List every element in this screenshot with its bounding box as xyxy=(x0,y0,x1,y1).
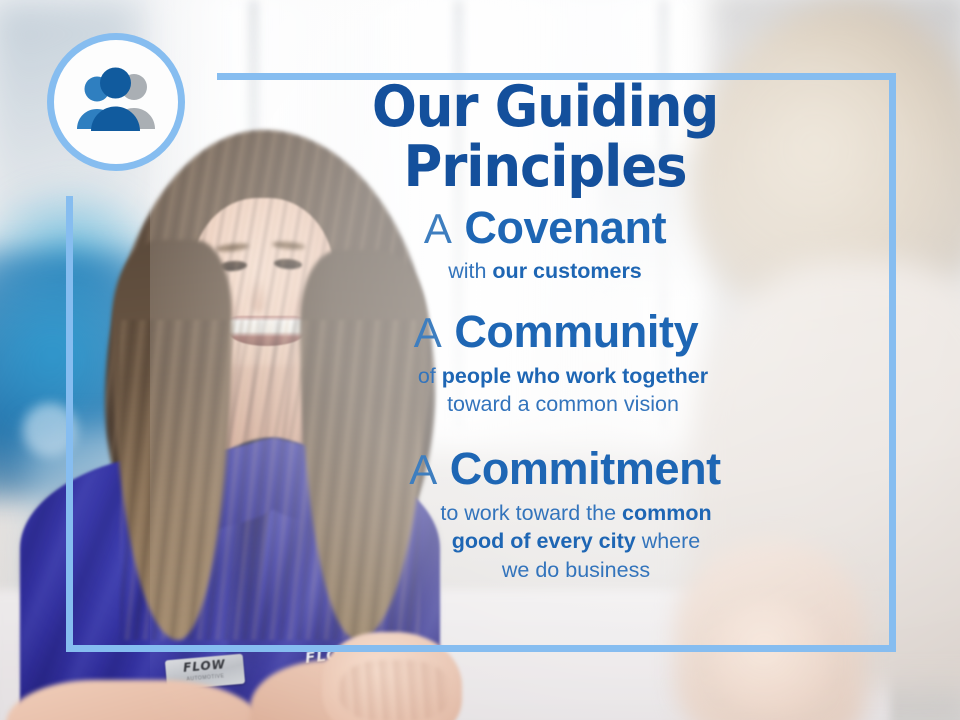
principle-community-article: A xyxy=(414,309,442,356)
principle-community: A Community of people who work together … xyxy=(200,308,890,419)
people-group-icon xyxy=(68,67,164,137)
principle-community-heading: A Community xyxy=(200,308,890,356)
principle-community-word: Community xyxy=(454,306,698,357)
principle-covenant-article: A xyxy=(424,205,452,252)
commitment-sub-line3: we do business xyxy=(502,558,650,582)
principle-community-subtext: of people who work together toward a com… xyxy=(200,362,890,419)
community-sub-bold: people who work together xyxy=(442,364,708,388)
commitment-sub-line1-bold: common xyxy=(622,501,712,525)
frame-border-bottom xyxy=(66,645,896,652)
principle-covenant-subtext: with our customers xyxy=(200,257,890,286)
guiding-principles-banner: FLOW AUTOMOTIVE FLOW xyxy=(0,0,960,720)
principle-covenant-heading: A Covenant xyxy=(200,204,890,252)
principle-commitment-word: Commitment xyxy=(450,443,721,494)
commitment-sub-line2-plain: where xyxy=(636,529,701,553)
frame-border-left xyxy=(66,196,73,652)
employee-fingers xyxy=(340,660,450,720)
covenant-sub-bold: our customers xyxy=(492,259,641,283)
people-badge-circle xyxy=(47,33,185,171)
principles-text-block: Our Guiding Principles A Covenant with o… xyxy=(200,78,890,584)
principle-covenant-word: Covenant xyxy=(464,202,666,253)
commitment-sub-line1-plain: to work toward the xyxy=(440,501,622,525)
principle-commitment-subtext: to work toward the common good of every … xyxy=(200,499,890,585)
principle-commitment-article: A xyxy=(409,446,437,493)
commitment-sub-line2-bold: good of every city xyxy=(452,529,636,553)
principle-covenant: A Covenant with our customers xyxy=(200,204,890,286)
page-title: Our Guiding Principles xyxy=(224,78,866,198)
community-sub-line2: toward a common vision xyxy=(447,392,679,416)
principle-commitment-heading: A Commitment xyxy=(200,445,890,493)
covenant-sub-plain: with xyxy=(448,259,492,283)
frame-border-right xyxy=(889,73,896,652)
community-sub-plain: of xyxy=(418,364,442,388)
principle-commitment: A Commitment to work toward the common g… xyxy=(200,445,890,584)
